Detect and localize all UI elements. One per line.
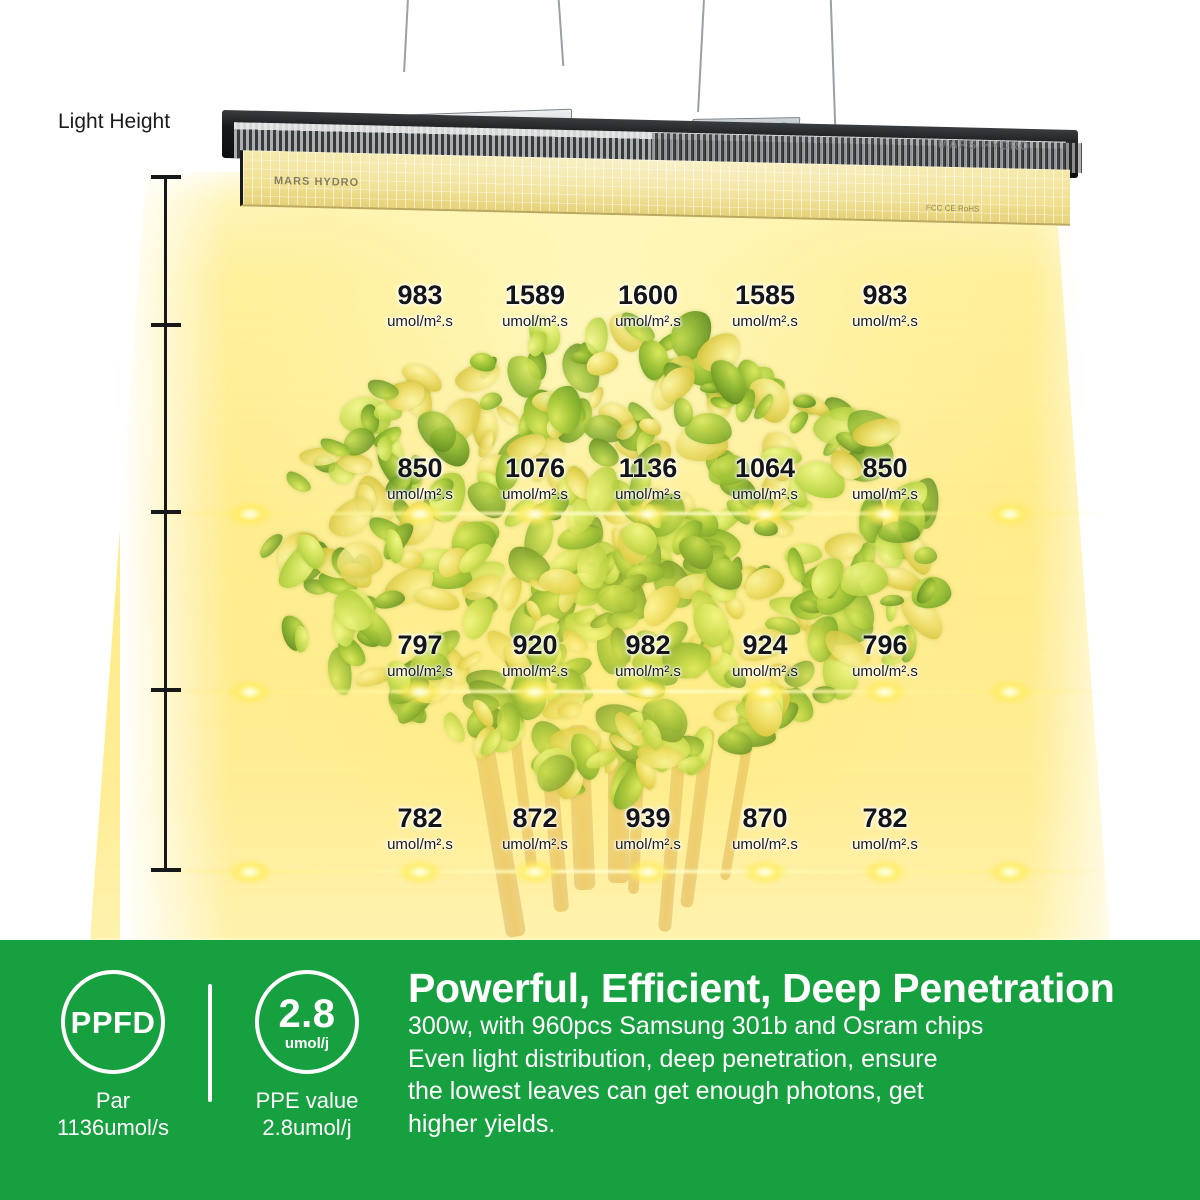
ppfd-unit: umol/m².s bbox=[502, 487, 568, 502]
ppfd-cell: 920umol/m².s bbox=[502, 632, 568, 679]
ppfd-value: 982 bbox=[615, 632, 681, 659]
plant-leaf bbox=[412, 585, 461, 614]
fixture-brand-label: MARS HYDRO bbox=[274, 175, 359, 189]
hanger-cable bbox=[830, 0, 836, 125]
ppfd-value: 872 bbox=[502, 805, 568, 832]
ppfd-caption: Par 1136umol/s bbox=[38, 1088, 188, 1142]
ppfd-unit: umol/m².s bbox=[502, 314, 568, 329]
banner-copy: Powerful, Efficient, Deep Penetration 30… bbox=[382, 940, 1135, 1140]
ppfd-value: 850 bbox=[387, 455, 453, 482]
ppfd-value: 1136 bbox=[615, 455, 681, 482]
ppfd-unit: umol/m².s bbox=[615, 664, 681, 679]
light-sparkle-icon bbox=[862, 859, 908, 885]
plant-leaf bbox=[792, 394, 815, 408]
ppfd-unit: umol/m².s bbox=[502, 837, 568, 852]
ppe-circle-icon: 2.8 umol/j bbox=[255, 970, 359, 1074]
ppfd-cell: 1600umol/m².s bbox=[615, 282, 681, 329]
ppfd-unit: umol/m².s bbox=[615, 314, 681, 329]
light-sparkle-icon bbox=[987, 679, 1033, 705]
plant-leaf bbox=[455, 648, 484, 672]
ppfd-unit: umol/m².s bbox=[732, 664, 798, 679]
ppfd-unit: umol/m².s bbox=[732, 487, 798, 502]
plant-leaf bbox=[372, 588, 406, 612]
ppfd-value: 1589 bbox=[502, 282, 568, 309]
plant-leaf bbox=[811, 685, 836, 704]
light-sparkle-icon bbox=[227, 679, 273, 705]
glow-line bbox=[150, 870, 1110, 873]
ppfd-unit: umol/m².s bbox=[615, 837, 681, 852]
axis-tick bbox=[151, 510, 181, 514]
light-sparkle-icon bbox=[742, 679, 788, 705]
light-sparkle-icon bbox=[862, 501, 908, 527]
feature-banner: PPFD Par 1136umol/s 2.8 umol/j PPE value… bbox=[0, 940, 1200, 1200]
ppfd-cell: 1064umol/m².s bbox=[732, 455, 798, 502]
light-sparkle-icon bbox=[512, 679, 558, 705]
light-sparkle-icon bbox=[987, 501, 1033, 527]
light-sparkle-icon bbox=[397, 501, 443, 527]
ppfd-cell: 1589umol/m².s bbox=[502, 282, 568, 329]
ppfd-unit: umol/m².s bbox=[732, 314, 798, 329]
plant-canopy bbox=[265, 325, 935, 795]
light-sparkle-icon bbox=[227, 501, 273, 527]
light-sparkle-icon bbox=[987, 859, 1033, 885]
plant-leaf bbox=[914, 547, 937, 565]
badge-divider bbox=[208, 984, 212, 1102]
light-height-axis: Light Height 012'18"22"24" bbox=[0, 0, 230, 940]
ppfd-cell: 796umol/m².s bbox=[852, 632, 918, 679]
ppfd-value: 782 bbox=[387, 805, 453, 832]
light-sparkle-icon bbox=[625, 679, 671, 705]
ppfd-cell: 1585umol/m².s bbox=[732, 282, 798, 329]
light-sparkle-icon bbox=[625, 501, 671, 527]
ppfd-unit: umol/m².s bbox=[387, 314, 453, 329]
ppe-circle-main: 2.8 bbox=[278, 994, 335, 1034]
ppfd-cell: 924umol/m².s bbox=[732, 632, 798, 679]
ppfd-unit: umol/m².s bbox=[502, 664, 568, 679]
ppfd-value: 796 bbox=[852, 632, 918, 659]
plant-leaf bbox=[294, 625, 308, 652]
ppfd-cell: 850umol/m².s bbox=[387, 455, 453, 502]
ppfd-value: 939 bbox=[615, 805, 681, 832]
axis-tick bbox=[151, 175, 181, 179]
ppfd-caption-line2: 1136umol/s bbox=[38, 1115, 188, 1142]
ppfd-unit: umol/m².s bbox=[615, 487, 681, 502]
fixture-spec-note: FCC CE RoHS bbox=[926, 203, 986, 214]
light-sparkle-icon bbox=[397, 679, 443, 705]
ppfd-unit: umol/m².s bbox=[852, 837, 918, 852]
glow-line bbox=[150, 512, 1110, 515]
plant-leaf bbox=[838, 559, 890, 599]
ppe-caption-line2: 2.8umol/j bbox=[232, 1115, 382, 1142]
ppfd-unit: umol/m².s bbox=[852, 664, 918, 679]
ppfd-value: 983 bbox=[852, 282, 918, 309]
glow-line bbox=[150, 690, 1110, 693]
badge-ppfd: PPFD Par 1136umol/s bbox=[38, 970, 188, 1142]
ppfd-unit: umol/m².s bbox=[387, 487, 453, 502]
axis-line bbox=[164, 177, 167, 871]
ppfd-cell: 983umol/m².s bbox=[852, 282, 918, 329]
ppfd-value: 983 bbox=[387, 282, 453, 309]
hanger-cable bbox=[697, 0, 705, 112]
ppe-caption: PPE value 2.8umol/j bbox=[232, 1088, 382, 1142]
banner-body-lines: 300w, with 960pcs Samsung 301b and Osram… bbox=[408, 1010, 1115, 1140]
ppe-circle-sub: umol/j bbox=[285, 1036, 329, 1051]
light-sparkle-icon bbox=[625, 859, 671, 885]
ppfd-cell: 797umol/m².s bbox=[387, 632, 453, 679]
ppfd-cell: 939umol/m².s bbox=[615, 805, 681, 852]
ppfd-unit: umol/m².s bbox=[732, 837, 798, 852]
grow-light-fixture: MARS HYDRO MARS HYDRO FCC CE RoHS bbox=[222, 112, 1078, 224]
light-sparkle-icon bbox=[397, 859, 443, 885]
fixture-right-logo: MARS HYDRO bbox=[938, 137, 1030, 153]
ppfd-infographic: MARS HYDRO MARS HYDRO FCC CE RoHS Light … bbox=[0, 0, 1200, 1200]
ppfd-unit: umol/m².s bbox=[852, 487, 918, 502]
light-sparkle-icon bbox=[742, 501, 788, 527]
ppfd-cell: 872umol/m².s bbox=[502, 805, 568, 852]
ppfd-value: 1600 bbox=[615, 282, 681, 309]
axis-title: Light Height bbox=[58, 110, 170, 134]
plant-leaf bbox=[547, 385, 582, 434]
ppfd-value: 1076 bbox=[502, 455, 568, 482]
ppfd-cell: 1076umol/m².s bbox=[502, 455, 568, 502]
ppfd-value: 870 bbox=[732, 805, 798, 832]
hanger-cable bbox=[403, 0, 409, 72]
ppfd-cell: 982umol/m².s bbox=[615, 632, 681, 679]
banner-body-line: Even light distribution, deep penetratio… bbox=[408, 1043, 1115, 1076]
ppfd-value: 1064 bbox=[732, 455, 798, 482]
axis-tick bbox=[151, 323, 181, 327]
ppfd-value: 850 bbox=[852, 455, 918, 482]
ppfd-value: 797 bbox=[387, 632, 453, 659]
ppfd-unit: umol/m².s bbox=[852, 314, 918, 329]
light-sparkle-icon bbox=[862, 679, 908, 705]
plant-illustration bbox=[265, 325, 935, 940]
banner-title: Powerful, Efficient, Deep Penetration bbox=[408, 966, 1115, 1010]
ppfd-caption-line1: Par bbox=[38, 1088, 188, 1115]
axis-tick bbox=[151, 868, 181, 872]
ppe-caption-line1: PPE value bbox=[232, 1088, 382, 1115]
banner-body-line: the lowest leaves can get enough photons… bbox=[408, 1075, 1115, 1108]
ppfd-cell: 870umol/m².s bbox=[732, 805, 798, 852]
hanger-cable bbox=[558, 0, 565, 66]
light-sparkle-icon bbox=[512, 501, 558, 527]
ppfd-unit: umol/m².s bbox=[387, 837, 453, 852]
plant-leaf bbox=[439, 710, 469, 747]
ppfd-cell: 782umol/m².s bbox=[852, 805, 918, 852]
ppfd-value: 782 bbox=[852, 805, 918, 832]
ppfd-circle-main: PPFD bbox=[71, 1007, 156, 1038]
ppfd-value: 1585 bbox=[732, 282, 798, 309]
light-sparkle-icon bbox=[512, 859, 558, 885]
ppfd-value: 920 bbox=[502, 632, 568, 659]
plant-leaf bbox=[282, 468, 313, 496]
ppfd-cell: 782umol/m².s bbox=[387, 805, 453, 852]
light-sparkle-icon bbox=[742, 859, 788, 885]
banner-body-line: higher yields. bbox=[408, 1108, 1115, 1141]
banner-body-line: 300w, with 960pcs Samsung 301b and Osram… bbox=[408, 1010, 1115, 1043]
ppfd-unit: umol/m².s bbox=[387, 664, 453, 679]
light-sparkle-icon bbox=[227, 859, 273, 885]
badge-ppe: 2.8 umol/j PPE value 2.8umol/j bbox=[232, 970, 382, 1142]
ppfd-circle-icon: PPFD bbox=[61, 970, 165, 1074]
ppfd-cell: 983umol/m².s bbox=[387, 282, 453, 329]
axis-tick bbox=[151, 688, 181, 692]
ppfd-cell: 1136umol/m².s bbox=[615, 455, 681, 502]
banner-badges: PPFD Par 1136umol/s 2.8 umol/j PPE value… bbox=[0, 940, 382, 1142]
ppfd-value: 924 bbox=[732, 632, 798, 659]
ppfd-cell: 850umol/m².s bbox=[852, 455, 918, 502]
